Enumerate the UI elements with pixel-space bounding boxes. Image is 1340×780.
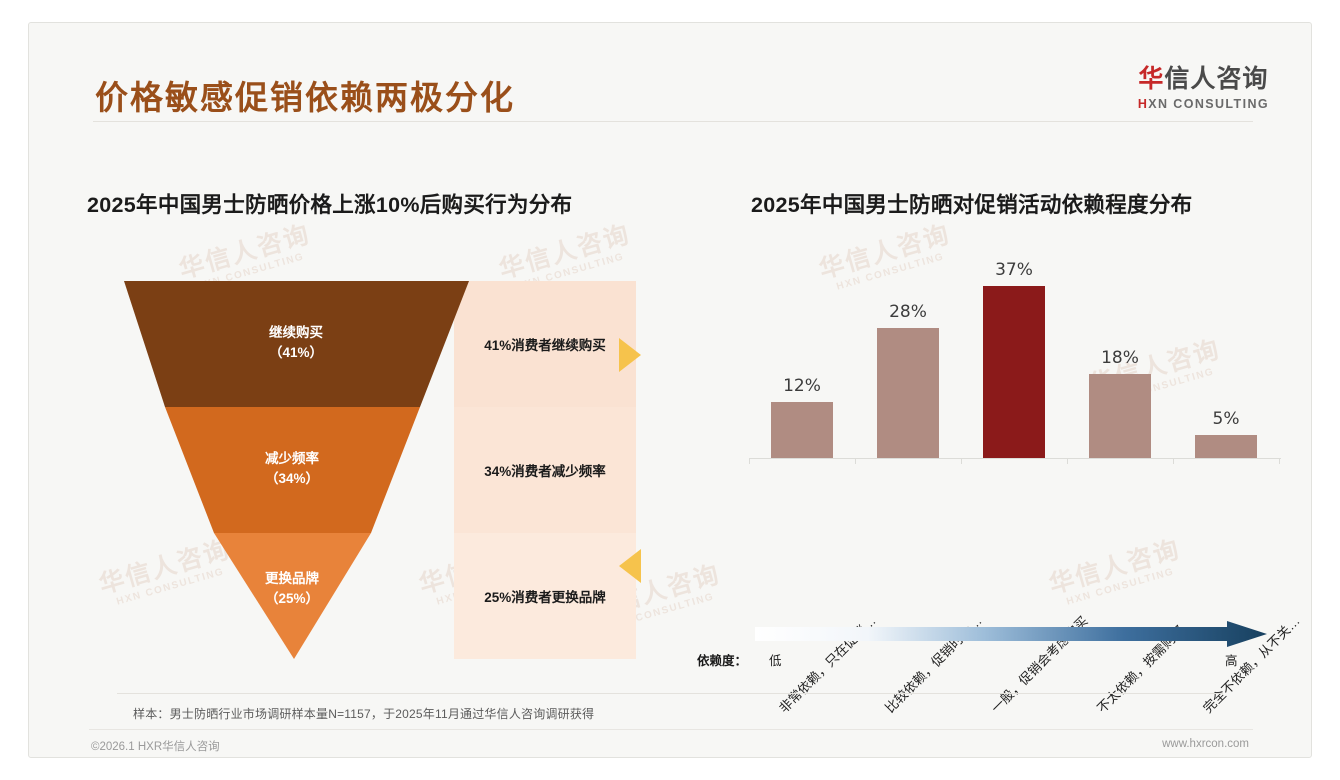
watermark-cn: 华信人咨询 [496, 220, 634, 285]
logo-en-rest: XN CONSULTING [1148, 97, 1269, 111]
header-divider [93, 121, 1253, 122]
bar[interactable] [1089, 374, 1151, 458]
watermark-cn: 华信人咨询 [176, 220, 314, 285]
slide-header: 价格敏感促销依赖两极分化 华信人咨询 HXN CONSULTING [29, 23, 1311, 127]
bar-column[interactable]: 18% [1067, 348, 1173, 458]
legend-low-label: 低 [769, 650, 782, 669]
play-right-triangle-icon [619, 338, 641, 372]
axis-tick [961, 458, 962, 464]
watermark-cn: 华信人咨询 [1046, 535, 1184, 600]
bar-column[interactable]: 37% [961, 260, 1067, 458]
axis-tick [1173, 458, 1174, 464]
x-axis-line [749, 458, 1281, 459]
axis-tick [1279, 458, 1280, 464]
slide-canvas: 华信人咨询 HXN CONSULTING 华信人咨询 HXN CONSULTIN… [28, 22, 1312, 758]
logo-cn-accent: 华 [1138, 65, 1164, 93]
funnel-chart: 41%消费者继续购买 34%消费者减少频率 25%消费者更换品牌 继续购买 （4… [124, 281, 636, 659]
bar[interactable] [877, 328, 939, 458]
bar-column[interactable]: 5% [1173, 409, 1279, 458]
bar[interactable] [771, 402, 833, 458]
gradient-arrow-icon [697, 621, 1277, 651]
axis-tick [855, 458, 856, 464]
page-title: 价格敏感促销依赖两极分化 [95, 71, 515, 119]
logo-english: HXN CONSULTING [1138, 97, 1269, 111]
legend-high-label: 高 [1225, 650, 1238, 669]
footer-divider [89, 729, 1253, 730]
legend-caption: 依赖度： [697, 650, 747, 669]
footer-copyright: ©2026.1 HXR华信人咨询 [91, 738, 220, 754]
axis-tick [1067, 458, 1068, 464]
logo-chinese: 华信人咨询 [1138, 59, 1269, 95]
play-left-triangle-icon [619, 549, 641, 583]
watermark-en: HXN CONSULTING [1054, 563, 1187, 611]
bar-column[interactable]: 12% [749, 376, 855, 458]
bar-value-label: 18% [1101, 348, 1139, 368]
funnel-segment-1 [124, 281, 469, 407]
brand-logo: 华信人咨询 HXN CONSULTING [1138, 59, 1269, 111]
bar[interactable] [1195, 435, 1257, 458]
bar-plot-area: 12%28%37%18%5% [749, 263, 1279, 458]
dependency-bar-chart: 12%28%37%18%5% 非常依赖，只在促销…比较依赖，促销时会…一般，促销… [729, 263, 1289, 463]
footnote-divider [117, 693, 1223, 694]
axis-tick [749, 458, 750, 464]
bar-value-label: 12% [783, 376, 821, 396]
watermark: 华信人咨询 HXN CONSULTING [1046, 535, 1187, 611]
footer-website: www.hxrcon.com [1162, 738, 1249, 750]
bar-value-label: 28% [889, 302, 927, 322]
bar-column[interactable]: 28% [855, 302, 961, 458]
left-panel-title: 2025年中国男士防晒价格上涨10%后购买行为分布 [87, 188, 572, 219]
bar-highlighted[interactable] [983, 286, 1045, 458]
bar-value-label: 37% [995, 260, 1033, 280]
funnel-segment-2 [165, 407, 420, 533]
dependency-scale-legend: 依赖度： 低 高 [697, 621, 1277, 681]
logo-en-accent: H [1138, 97, 1148, 111]
funnel-segment-3 [214, 533, 371, 659]
funnel-shape [124, 281, 636, 659]
source-footnote: 样本：男士防晒行业市场调研样本量N=1157，于2025年11月通过华信人咨询调… [133, 705, 594, 722]
right-panel-title: 2025年中国男士防晒对促销活动依赖程度分布 [751, 188, 1192, 219]
logo-cn-rest: 信人咨询 [1164, 65, 1268, 93]
bar-value-label: 5% [1213, 409, 1240, 429]
